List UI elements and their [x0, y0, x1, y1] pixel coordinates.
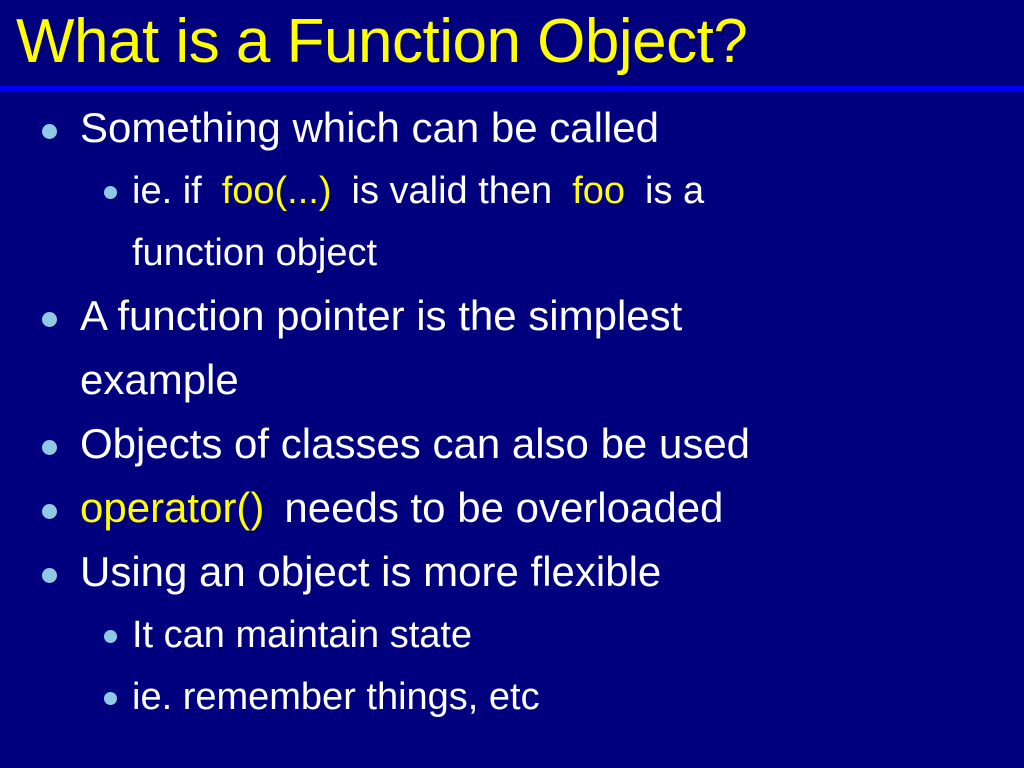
bullet-continuation-line: example	[0, 348, 1024, 412]
bullet-dot-icon	[104, 630, 117, 643]
bullet-continuation-line: function object	[0, 222, 1024, 284]
bullet-text: Something which can be called	[80, 104, 659, 151]
slide-body: Something which can be called ie. iffoo(…	[0, 96, 1024, 768]
bullet-item-level1: operator()needs to be overloaded	[0, 476, 1024, 540]
bullet-text: function object	[132, 232, 377, 274]
bullet-text: It can maintain state	[132, 614, 472, 656]
bullet-text: Objects of classes can also be used	[80, 420, 750, 467]
code-token-operator: operator()	[80, 484, 264, 531]
bullet-item-level2: ie. remember things, etc	[0, 666, 1024, 728]
bullet-dot-icon	[42, 440, 57, 455]
bullet-item-level1: Using an object is more flexible	[0, 540, 1024, 604]
bullet-dot-icon	[42, 312, 57, 327]
bullet-dot-icon	[42, 568, 57, 583]
title-divider-rule	[0, 86, 1024, 91]
bullet-text: Using an object is more flexible	[80, 548, 661, 595]
bullet-text-part: needs to be overloaded	[284, 484, 723, 531]
code-token-foo-call: foo(...)	[222, 170, 332, 212]
bullet-text-part: is valid then	[352, 170, 553, 212]
bullet-dot-icon	[104, 692, 117, 705]
bullet-item-level1: Something which can be called	[0, 96, 1024, 160]
slide: What is a Function Object? Something whi…	[0, 0, 1024, 768]
bullet-text-part: is a	[645, 170, 704, 212]
bullet-item-level2: ie. iffoo(...)is valid thenfoois a	[0, 160, 1024, 222]
bullet-dot-icon	[42, 124, 57, 139]
bullet-text-part: ie. if	[132, 170, 202, 212]
bullet-item-level1: A function pointer is the simplest	[0, 284, 1024, 348]
page-title: What is a Function Object?	[16, 2, 747, 82]
code-token-foo: foo	[572, 170, 625, 212]
slide-title-area: What is a Function Object?	[0, 0, 1024, 88]
bullet-dot-icon	[42, 504, 57, 519]
bullet-dot-icon	[104, 186, 117, 199]
bullet-text: A function pointer is the simplest	[80, 292, 682, 339]
bullet-text: ie. remember things, etc	[132, 676, 540, 718]
bullet-text: example	[80, 356, 239, 403]
bullet-item-level2: It can maintain state	[0, 604, 1024, 666]
bullet-item-level1: Objects of classes can also be used	[0, 412, 1024, 476]
